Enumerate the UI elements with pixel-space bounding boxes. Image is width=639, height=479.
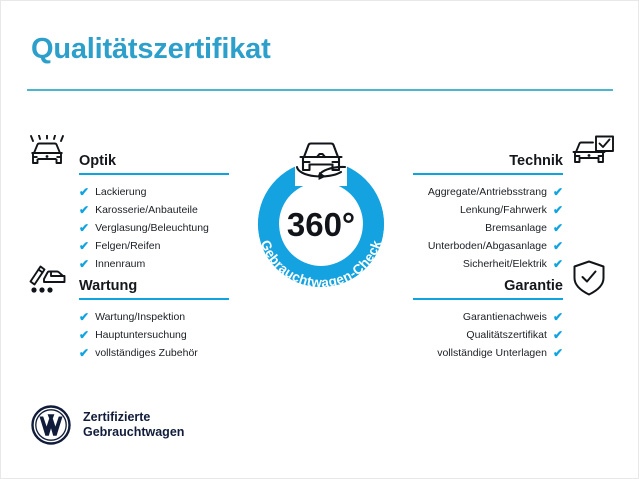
section-wartung-divider	[79, 298, 229, 300]
list-item: vollständige Unterlagen✔	[413, 344, 563, 362]
section-wartung-list: ✔Wartung/Inspektion ✔Hauptuntersuchung ✔…	[79, 308, 229, 362]
list-item-label: Lenkung/Fahrwerk	[460, 201, 547, 219]
list-item-label: Hauptuntersuchung	[95, 326, 187, 344]
check-icon: ✔	[553, 329, 563, 341]
section-technik-header: Technik	[413, 141, 563, 175]
section-garantie-list: Garantienachweis✔ Qualitätszertifikat✔ v…	[413, 308, 563, 362]
list-item-label: Felgen/Reifen	[95, 237, 160, 255]
section-technik-title: Technik	[509, 153, 563, 169]
section-wartung: Wartung ✔Wartung/Inspektion ✔Hauptunters…	[79, 266, 229, 362]
list-item: ✔Hauptuntersuchung	[79, 326, 229, 344]
section-garantie-title: Garantie	[504, 278, 563, 294]
title-divider	[27, 89, 613, 91]
check-icon: ✔	[79, 311, 89, 323]
list-item-label: Unterboden/Abgasanlage	[428, 237, 547, 255]
list-item-label: vollständige Unterlagen	[437, 344, 547, 362]
list-item-label: Wartung/Inspektion	[95, 308, 185, 326]
list-item-label: Lackierung	[95, 183, 146, 201]
check-icon: ✔	[79, 347, 89, 359]
list-item-label: vollständiges Zubehör	[95, 344, 198, 362]
section-optik-header: Optik	[79, 141, 229, 175]
section-wartung-title: Wartung	[79, 278, 137, 294]
check-icon: ✔	[79, 329, 89, 341]
car-shine-icon	[24, 135, 70, 169]
list-item: ✔Verglasung/Beleuchtung	[79, 219, 229, 237]
list-item: ✔Lackierung	[79, 183, 229, 201]
section-optik-title: Optik	[79, 153, 116, 169]
section-garantie-divider	[413, 298, 563, 300]
car-checkbox-icon	[569, 135, 615, 169]
certificate-page: Qualitätszertifikat Optik ✔Lackierung ✔K…	[0, 0, 639, 479]
list-item: Aggregate/Antriebsstrang✔	[413, 183, 563, 201]
list-item: ✔vollständiges Zubehör	[79, 344, 229, 362]
section-technik: Technik Aggregate/Antriebsstrang✔ Lenkun…	[413, 141, 563, 273]
brand-line-2: Gebrauchtwagen	[83, 425, 184, 440]
section-optik-divider	[79, 173, 229, 175]
check-icon: ✔	[553, 311, 563, 323]
list-item-label: Karosserie/Anbauteile	[95, 201, 198, 219]
check-icon: ✔	[553, 222, 563, 234]
check-icon: ✔	[553, 347, 563, 359]
check-icon: ✔	[79, 240, 89, 252]
section-optik-list: ✔Lackierung ✔Karosserie/Anbauteile ✔Verg…	[79, 183, 229, 273]
brand-line-1: Zertifizierte	[83, 410, 184, 425]
list-item-label: Bremsanlage	[485, 219, 547, 237]
section-garantie: Garantie Garantienachweis✔ Qualitätszert…	[413, 266, 563, 362]
section-wartung-header: Wartung	[79, 266, 229, 300]
check-icon: ✔	[79, 204, 89, 216]
check-icon: ✔	[553, 204, 563, 216]
list-item-label: Garantienachweis	[463, 308, 547, 326]
badge-360-gebrauchtwagen-check: Gebrauchtwagen-Check 360°	[236, 121, 406, 306]
list-item-label: Aggregate/Antriebsstrang	[428, 183, 547, 201]
badge-center-label: 360°	[287, 206, 355, 243]
wrench-car-icon	[24, 260, 70, 294]
brand-footer: Zertifizierte Gebrauchtwagen	[31, 405, 184, 445]
list-item-label: Verglasung/Beleuchtung	[95, 219, 209, 237]
list-item: Lenkung/Fahrwerk✔	[413, 201, 563, 219]
section-optik: Optik ✔Lackierung ✔Karosserie/Anbauteile…	[79, 141, 229, 273]
list-item: Qualitätszertifikat✔	[413, 326, 563, 344]
list-item: ✔Wartung/Inspektion	[79, 308, 229, 326]
check-icon: ✔	[79, 186, 89, 198]
list-item-label: Qualitätszertifikat	[466, 326, 547, 344]
list-item: Bremsanlage✔	[413, 219, 563, 237]
shield-check-icon	[572, 260, 606, 296]
list-item: Unterboden/Abgasanlage✔	[413, 237, 563, 255]
list-item: Garantienachweis✔	[413, 308, 563, 326]
page-title: Qualitätszertifikat	[31, 33, 271, 66]
list-item: ✔Felgen/Reifen	[79, 237, 229, 255]
brand-name: Zertifizierte Gebrauchtwagen	[83, 410, 184, 440]
vw-logo	[31, 405, 71, 445]
check-icon: ✔	[79, 222, 89, 234]
section-technik-divider	[413, 173, 563, 175]
check-icon: ✔	[553, 240, 563, 252]
list-item: ✔Karosserie/Anbauteile	[79, 201, 229, 219]
section-garantie-header: Garantie	[413, 266, 563, 300]
section-technik-list: Aggregate/Antriebsstrang✔ Lenkung/Fahrwe…	[413, 183, 563, 273]
check-icon: ✔	[553, 186, 563, 198]
